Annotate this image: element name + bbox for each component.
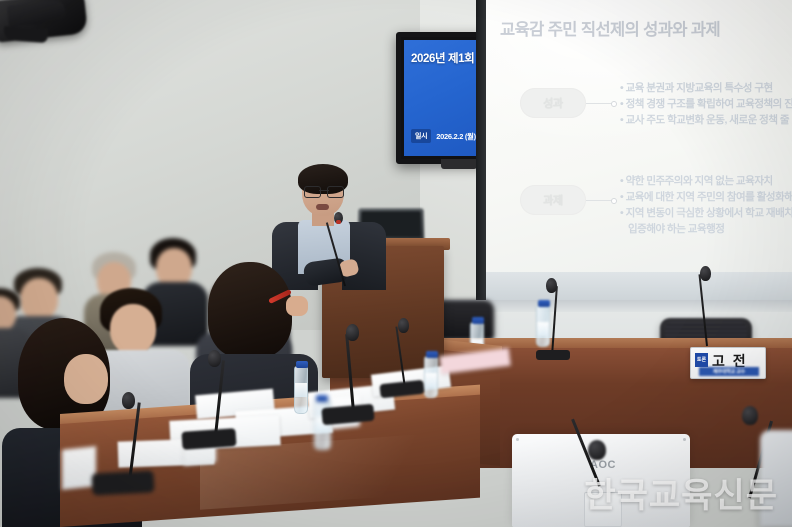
slide-bullet: • 교사 주도 학교변화 운동, 새로운 정책 줄	[620, 112, 792, 128]
presenter	[268, 168, 386, 290]
monitor-screw	[516, 438, 519, 441]
water-bottle	[424, 356, 438, 398]
slide-connector	[586, 103, 614, 104]
projection-screen-lower-band	[486, 272, 792, 302]
slide-title: 교육감 주민 직선제의 성과와 과제	[500, 16, 788, 40]
tv-wall-mount	[441, 159, 477, 169]
glasses-icon	[304, 186, 344, 196]
audience-hand	[286, 296, 308, 316]
table-name-tent	[62, 446, 96, 490]
nameplate-affiliation: 제주대학교 교수	[699, 367, 759, 376]
slide-pill-tasks: 과제	[520, 185, 586, 215]
slide-bullet: • 교육에 대한 지역 주민의 참여를 활성화해서	[620, 189, 792, 205]
foreground-chair	[760, 430, 792, 527]
slide-bullet: • 정책 경쟁 구조를 확립하여 교육정책의 진	[620, 96, 792, 112]
slide-bullet-list: • 약한 민주주의와 지역 없는 교육자치 • 교육에 대한 지역 주민의 참여…	[620, 173, 792, 237]
bottle-cap	[472, 317, 484, 324]
presenter-mouth	[316, 204, 329, 210]
slide-bullet: • 교육 분권과 지방교육의 특수성 구현	[620, 80, 792, 96]
slide-pill-label: 과제	[543, 192, 562, 208]
bottle-label	[537, 322, 549, 336]
projection-screen-frame	[476, 0, 486, 300]
bottle-label	[425, 373, 437, 387]
slide-bullet-list: • 교육 분권과 지방교육의 특수성 구현 • 정책 경쟁 구조를 확립하여 교…	[620, 80, 792, 128]
slide-pill-label: 성과	[543, 95, 562, 111]
monitor-stand-mount	[584, 492, 622, 527]
monitor-screw	[683, 438, 686, 441]
projection-screen: 교육감 주민 직선제의 성과와 과제 성과 • 교육 분권과 지방교육의 특수성…	[486, 0, 792, 272]
bottle-label	[295, 383, 307, 397]
slide-connector	[586, 200, 614, 201]
bottle-cap	[316, 395, 328, 402]
slide-pill-achievements: 성과	[520, 88, 586, 118]
water-bottle	[294, 366, 308, 414]
slide-bullet: • 약한 민주주의와 지역 없는 교육자치	[620, 173, 792, 189]
projector-mount-arm	[3, 26, 48, 43]
seminar-room-photo: 2026년 제1회 교육 일시 2026.2.2 (월) 14: 교육감 주민 …	[0, 0, 792, 527]
panel-nameplate: 토론 고 전 제주대학교 교수	[690, 347, 766, 379]
tv-date-chip: 일시	[411, 129, 431, 143]
nameplate-role-tag: 토론	[695, 353, 708, 367]
water-bottle	[536, 305, 550, 347]
slide-bullet: • 지역 변동이 극심한 상황에서 학교 재배치,	[620, 205, 792, 221]
bottle-cap	[426, 351, 438, 358]
bottle-cap	[296, 361, 308, 368]
slide-bullet: 입증해야 하는 교육행정	[620, 221, 792, 237]
bottle-cap	[538, 300, 550, 307]
microphone-indicator-light	[336, 220, 341, 224]
